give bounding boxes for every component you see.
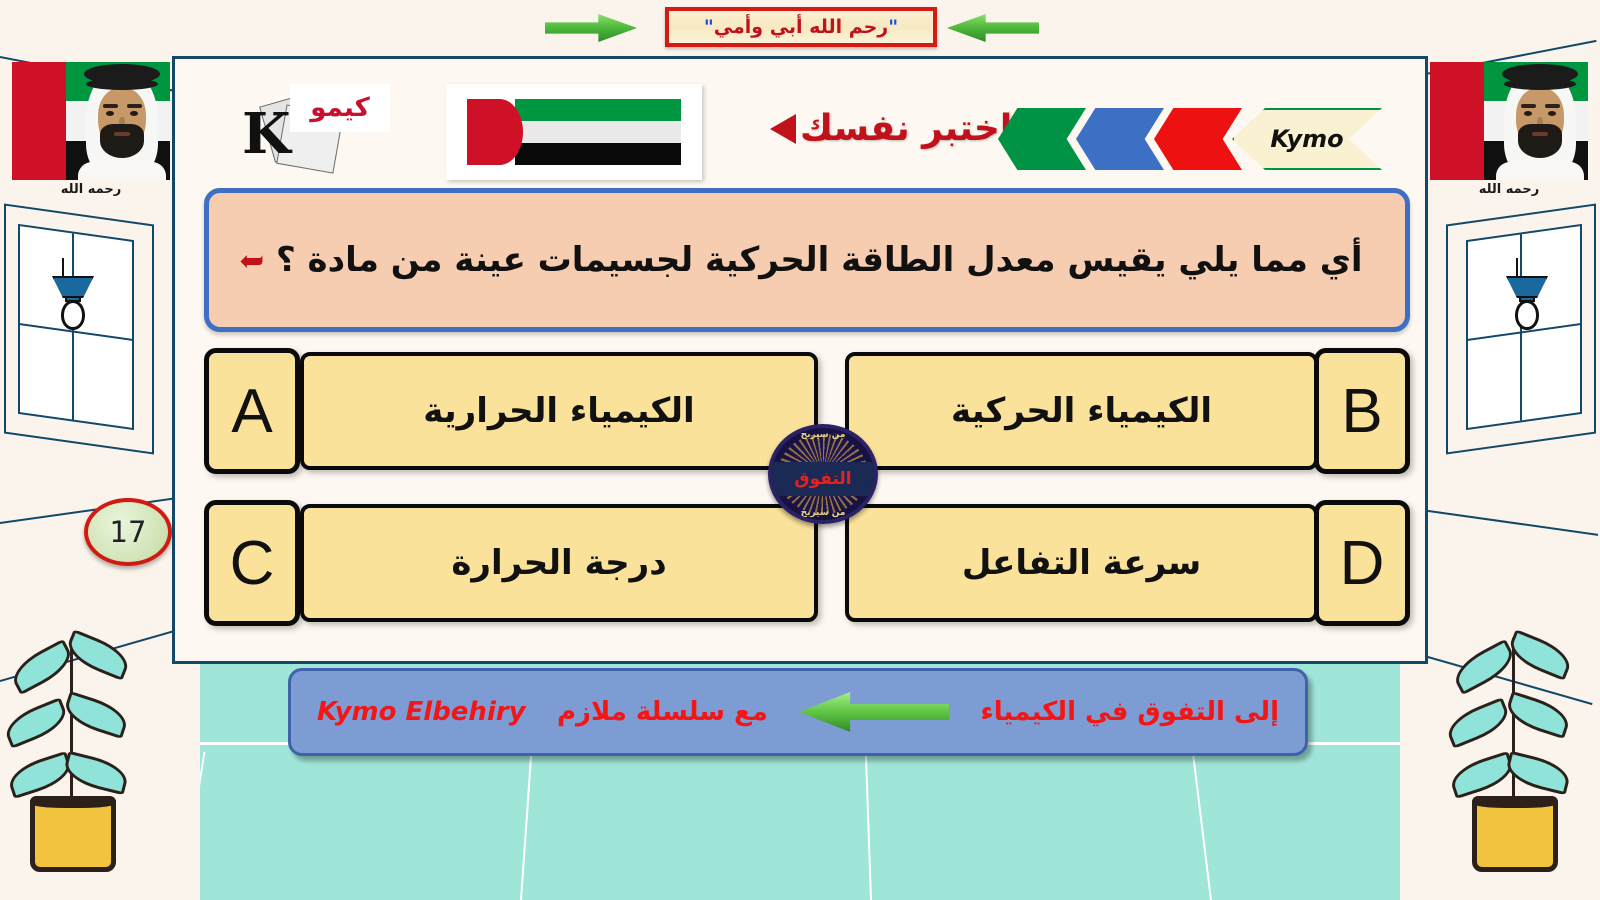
portrait-block-left: رحمه الله (12, 62, 170, 197)
top-ribbon: " رحم الله أبي وأمي " (0, 0, 1600, 56)
question-box: أي مما يلي يقيس معدل الطاقة الحركية لجسي… (204, 188, 1410, 332)
test-yourself-text: اختبر نفسك (800, 108, 1012, 149)
question-text: أي مما يلي يقيس معدل الطاقة الحركية لجسي… (276, 240, 1363, 280)
banner-middle-text: مع سلسلة ملازم (557, 697, 768, 727)
option-a[interactable]: A الكيمياء الحرارية (204, 348, 814, 474)
badge-band-label: التفوق (768, 462, 878, 496)
potted-plant-right (1446, 612, 1596, 872)
slide-stage: " رحم الله أبي وأمي " رحمه الله (0, 0, 1600, 900)
chevron-blue (1076, 108, 1164, 170)
chevron-red (1154, 108, 1242, 170)
option-d[interactable]: D سرعة التفاعل (845, 500, 1410, 626)
arrow-pointer-red-icon: ➥ (239, 242, 264, 281)
badge-arc-bottom: من سيربح (772, 508, 874, 518)
hanging-lamp-icon-left (50, 258, 96, 332)
option-c[interactable]: C درجة الحرارة (204, 500, 814, 626)
question-number-badge: 17 (84, 498, 172, 566)
bottom-banner[interactable]: إلى التفوق في الكيمياء مع سلسلة ملازم Ky… (288, 668, 1308, 756)
potted-plant-left (4, 612, 154, 872)
arrow-left-green-icon (947, 14, 1039, 42)
chevron-green (998, 108, 1086, 170)
arrow-left-green-icon-banner (799, 692, 949, 732)
banner-brand-text: Kymo Elbehiry (317, 697, 526, 727)
k-letter: K (242, 106, 291, 162)
kymo-arabic-script: كيمو (290, 84, 390, 132)
badge-arc-top: من سيربح (772, 430, 874, 440)
arrow-left-red-icon (770, 114, 796, 144)
option-b-letter: B (1314, 348, 1410, 474)
arrow-right-green-icon (545, 14, 637, 42)
millionaire-badge: من سيربح من سيربح التفوق (768, 424, 878, 524)
uae-flag-icon (467, 99, 681, 165)
portrait-caption-left: رحمه الله (12, 182, 170, 197)
portrait-block-right: رحمه الله (1430, 62, 1588, 197)
test-yourself-label: اختبر نفسك (770, 108, 1012, 149)
uae-flag-frame (446, 84, 702, 180)
option-a-text[interactable]: الكيمياء الحرارية (300, 352, 818, 470)
chevron-kymo: Kymo (1232, 108, 1382, 170)
chevron-row: Kymo (1008, 108, 1382, 170)
option-b[interactable]: B الكيمياء الحركية (845, 348, 1410, 474)
sheikh-zayed-portrait-right (1430, 62, 1588, 180)
room-floor (0, 745, 1600, 900)
portrait-caption-right: رحمه الله (1430, 182, 1588, 197)
option-a-letter: A (204, 348, 300, 474)
option-d-text[interactable]: سرعة التفاعل (845, 504, 1318, 622)
banner-right-text: إلى التفوق في الكيمياء (980, 697, 1279, 727)
sheikh-zayed-portrait-left (12, 62, 170, 180)
dedication-text: رحم الله أبي وأمي (714, 16, 888, 38)
dedication-plaque: " رحم الله أبي وأمي " (665, 7, 937, 47)
option-d-letter: D (1314, 500, 1410, 626)
quote-close: " (704, 16, 714, 38)
option-c-letter: C (204, 500, 300, 626)
quote-open: " (888, 16, 898, 38)
hanging-lamp-icon-right (1504, 258, 1550, 332)
kymo-k-logo: K كيمو (238, 84, 390, 162)
question-text-row: أي مما يلي يقيس معدل الطاقة الحركية لجسي… (231, 238, 1363, 282)
option-b-text[interactable]: الكيمياء الحركية (845, 352, 1318, 470)
option-c-text[interactable]: درجة الحرارة (300, 504, 818, 622)
